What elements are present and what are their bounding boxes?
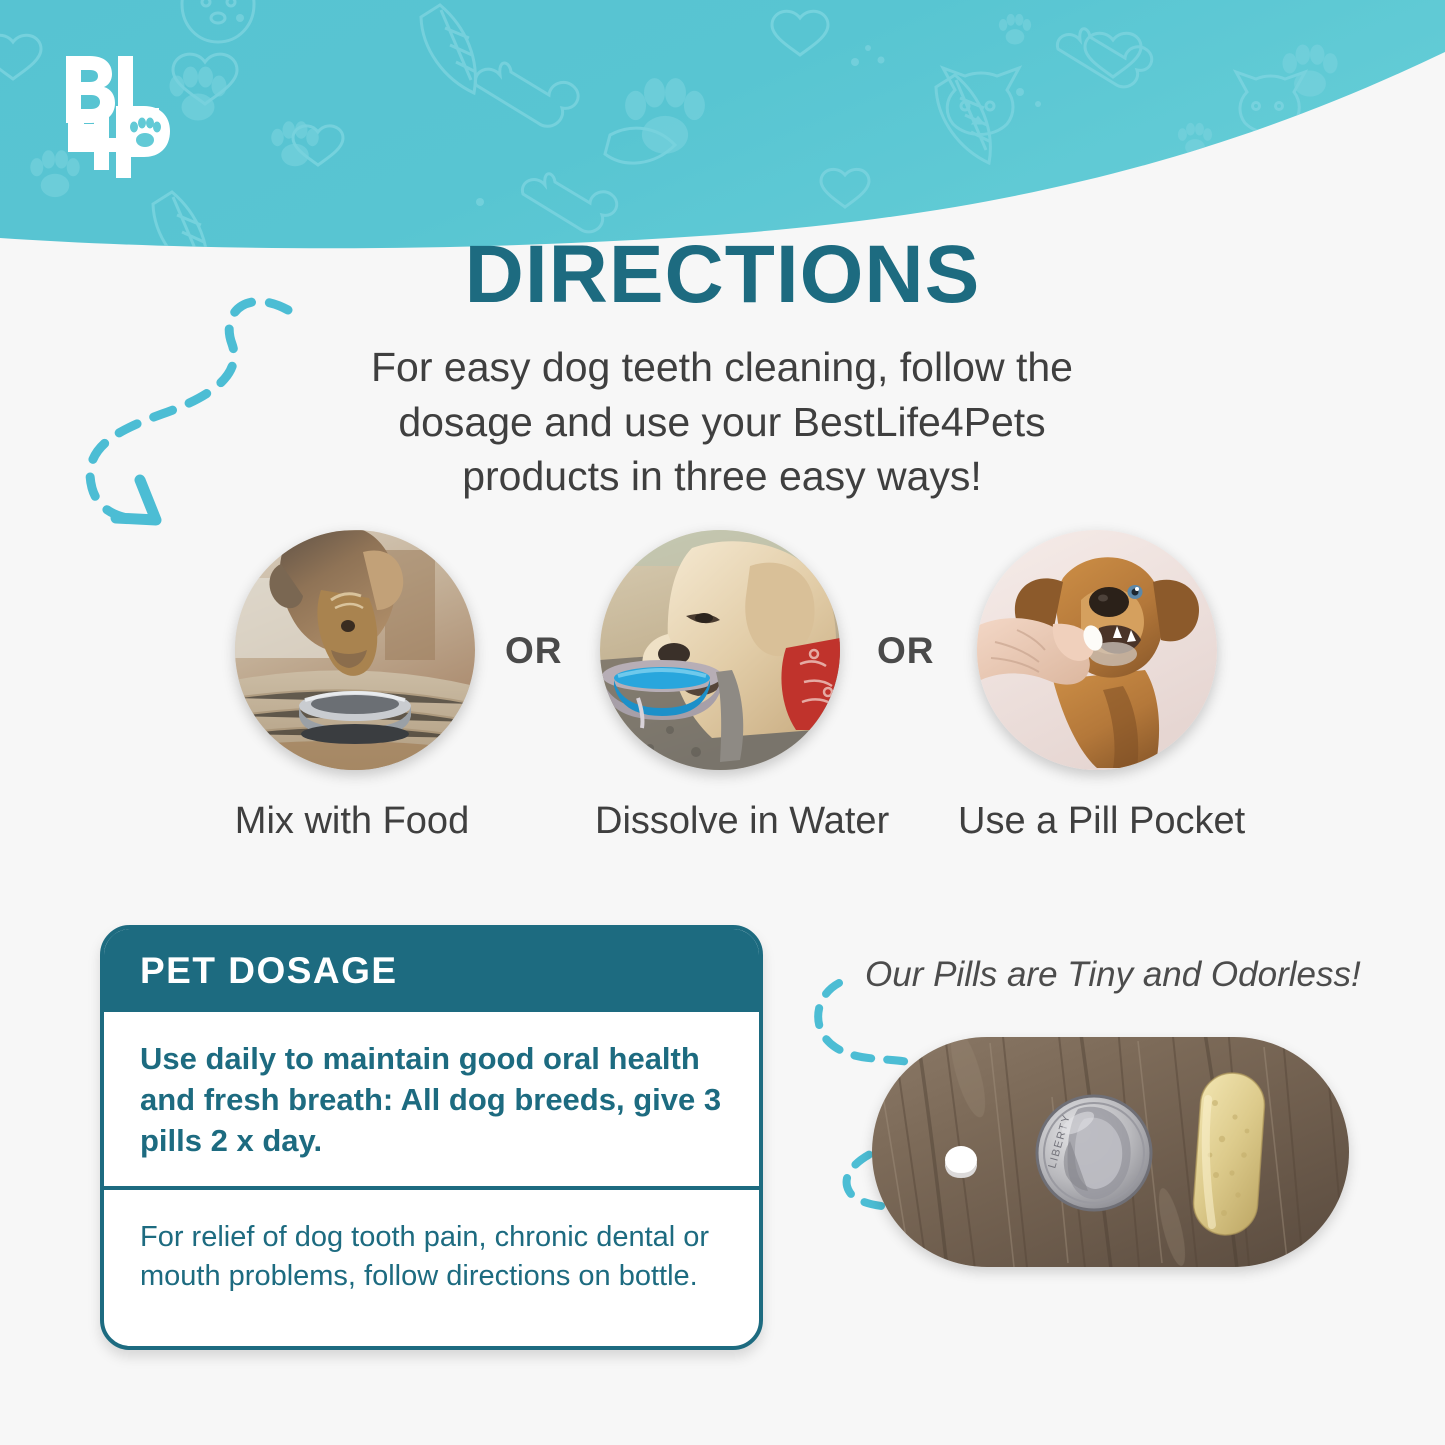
or-separator-2: OR xyxy=(877,630,935,672)
us-dime-coin-icon: LIBERTY xyxy=(1037,1096,1151,1210)
method-label: Use a Pill Pocket xyxy=(958,800,1222,843)
brand-logo[interactable] xyxy=(58,48,178,178)
method-use-pill-pocket[interactable]: Use a Pill Pocket xyxy=(972,530,1222,843)
method-mix-with-food[interactable]: Mix with Food xyxy=(230,530,480,843)
methods-row: Mix with Food OR xyxy=(0,530,1445,850)
method-label: Dissolve in Water xyxy=(595,800,845,843)
pet-dosage-card: PET DOSAGE Use daily to maintain good or… xyxy=(100,925,763,1350)
dog-treat-photo xyxy=(977,530,1217,770)
dosage-secondary-text: For relief of dog tooth pain, chronic de… xyxy=(104,1190,759,1305)
infographic-page: DIRECTIONS For easy dog teeth cleaning, … xyxy=(0,0,1445,1445)
page-subtitle: For easy dog teeth cleaning, follow the … xyxy=(322,340,1122,504)
pill-size-comparison-panel: LIBERTY xyxy=(872,1037,1349,1267)
dosage-primary-text: Use daily to maintain good oral health a… xyxy=(104,1012,759,1190)
dog-drinking-photo xyxy=(600,530,840,770)
dashed-arrow-icon xyxy=(52,282,342,562)
dosage-card-heading: PET DOSAGE xyxy=(104,929,759,1012)
dog-eating-photo xyxy=(235,530,475,770)
method-label: Mix with Food xyxy=(224,800,480,843)
method-dissolve-in-water[interactable]: Dissolve in Water xyxy=(595,530,845,843)
or-separator-1: OR xyxy=(505,630,563,672)
large-yellow-capsule-icon xyxy=(1191,1071,1266,1237)
tiny-white-pill-icon xyxy=(945,1146,977,1178)
